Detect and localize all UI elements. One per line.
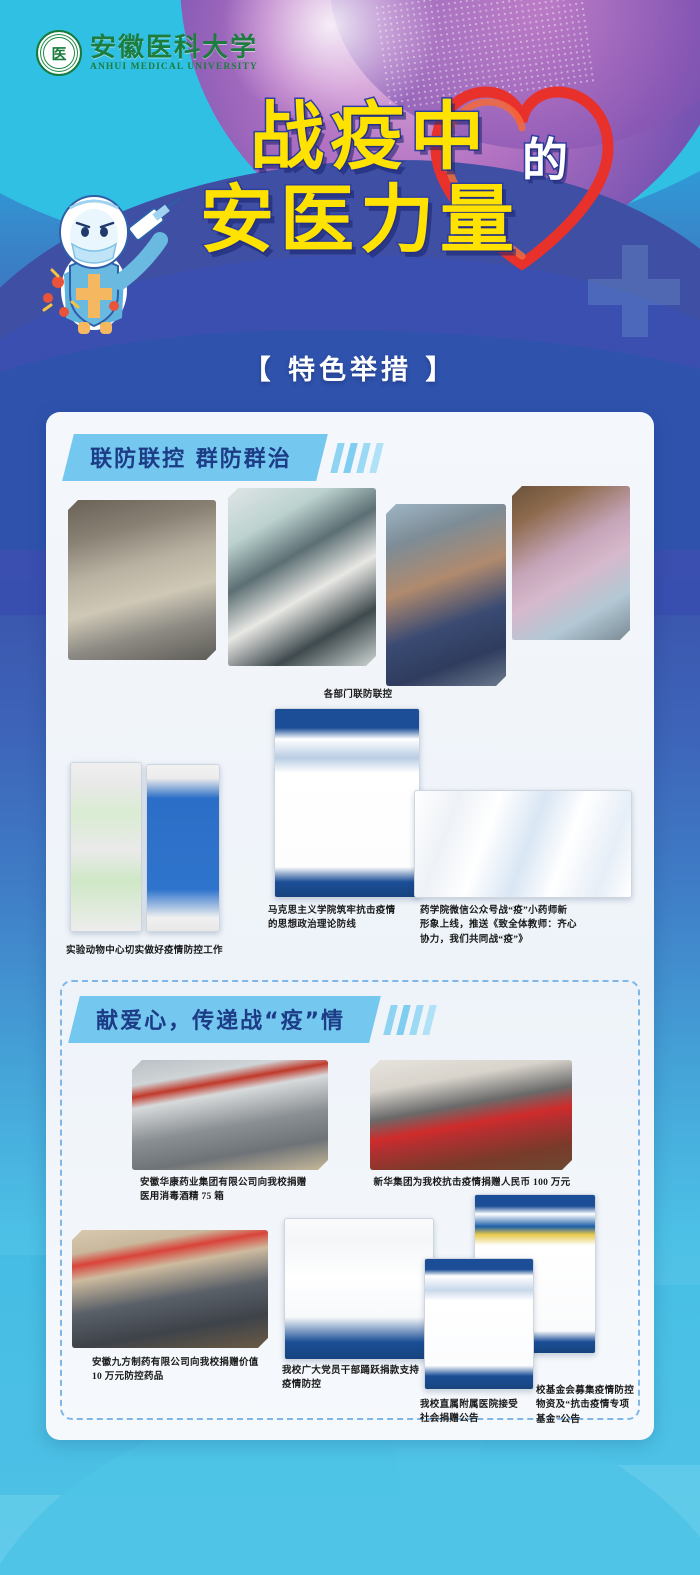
caption-hospital-notice: 我校直属附属医院接受 社会捐赠公告 [420, 1398, 532, 1427]
caption-pharmacy-college: 药学院微信公众号战“疫”小药师新 形象上线，推送《致全体教师：齐心 协力，我们共… [420, 904, 600, 947]
caption-foundation-notice: 校基金会募集疫情防控 物资及“抗击疫情专项 基金”公告 [536, 1384, 646, 1427]
slash-decoration [356, 443, 370, 473]
caption-jiufang: 安徽九方制药有限公司向我校捐赠价值 10 万元防控药品 [92, 1356, 302, 1385]
canteen-photo [68, 500, 216, 660]
section-joint-prevention: 联防联控 群防群治 [68, 434, 634, 481]
university-logo: 医 安徽医科大学 ANHUI MEDICAL UNIVERSITY [36, 30, 258, 76]
slash-decoration [422, 1005, 436, 1035]
section1-banner-label: 联防联控 群防群治 [90, 441, 292, 473]
jiufang-donation-photo [72, 1230, 268, 1348]
hospital-notice-webpage [424, 1258, 534, 1390]
logo-text-block: 安徽医科大学 ANHUI MEDICAL UNIVERSITY [90, 34, 258, 72]
section1-slashes [334, 443, 380, 473]
subtitle-special-measures: 【 特色举措 】 [0, 348, 700, 387]
main-title: 战疫中 安医力量 的 [0, 100, 700, 259]
xinhua-group-donation-photo [370, 1060, 572, 1170]
logo-name-en: ANHUI MEDICAL UNIVERSITY [90, 62, 258, 72]
pharmacy-wechat-screenshot [414, 790, 632, 898]
marxism-webpage-screenshot [274, 708, 420, 898]
caption-xinhua: 新华集团为我校抗击疫情捐赠人民币 100 万元 [364, 1176, 580, 1190]
caption-marxism-college: 马克思主义学院筑牢抗击疫情 的思想政治理论防线 [268, 904, 408, 933]
title-line-2: 安医力量 [0, 183, 700, 258]
slash-decoration [396, 1005, 410, 1035]
app-notice-screenshot [146, 764, 220, 932]
caption-joint-departments: 各部门联防联控 [278, 688, 438, 702]
university-seal-icon: 医 [36, 30, 82, 76]
logo-name-cn: 安徽医科大学 [90, 34, 258, 61]
seal-glyph: 医 [43, 37, 75, 69]
content-card: 联防联控 群防群治 各部门联防联控 实验动物中心切实做好疫情防控工作 马克思主义… [46, 412, 654, 1440]
poster-root: 医 安徽医科大学 ANHUI MEDICAL UNIVERSITY [0, 0, 700, 1575]
security-check-photo [386, 504, 506, 686]
section2-banner-label: 献爱心，传递战“疫”情 [96, 1003, 345, 1035]
section2-banner: 献爱心，传递战“疫”情 [68, 996, 381, 1043]
caption-party-members: 我校广大党员干部踊跃捐款支持 疫情防控 [282, 1364, 428, 1393]
slash-decoration [383, 1005, 397, 1035]
title-line-1: 战疫中 [0, 100, 700, 175]
party-donation-webpage [284, 1218, 434, 1360]
title-particle-de: 的 [522, 124, 568, 190]
wechat-chat-screenshot [70, 762, 142, 932]
slash-decoration [409, 1005, 423, 1035]
section2-slashes [387, 1005, 433, 1035]
caption-huakang: 安徽华康药业集团有限公司向我校捐赠 医用消毒酒精 75 箱 [118, 1176, 342, 1205]
slash-decoration [330, 443, 344, 473]
huakang-donation-photo [132, 1060, 328, 1170]
gate-temperature-photo [228, 488, 376, 666]
dorm-temperature-photo [512, 486, 630, 640]
caption-lab-animal-center: 实验动物中心切实做好疫情防控工作 [66, 944, 276, 958]
slash-decoration [343, 443, 357, 473]
slash-decoration [369, 443, 383, 473]
section1-banner: 联防联控 群防群治 [62, 434, 327, 481]
